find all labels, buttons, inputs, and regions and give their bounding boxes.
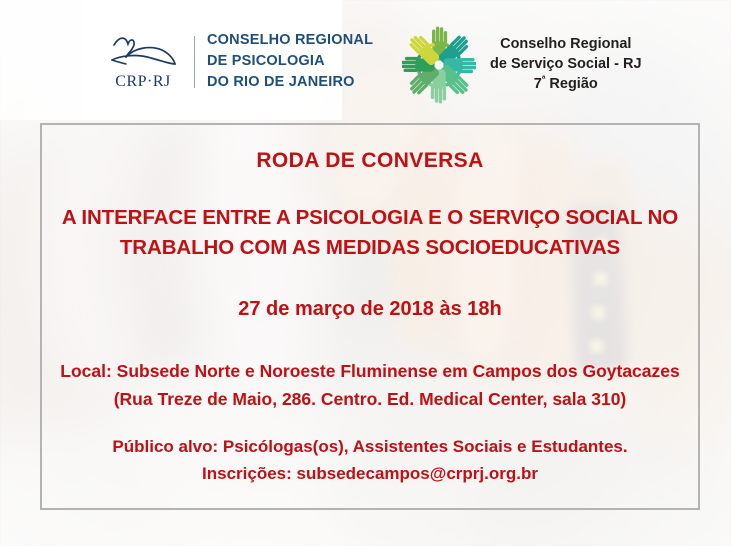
event-location-line-2: (Rua Treze de Maio, 286. Centro. Ed. Med…: [44, 385, 696, 413]
crp-rj-logo: CRP·RJ CONSELHO REGIONAL DE PSICOLOGIA D…: [104, 30, 373, 93]
event-title-line-1: A INTERFACE ENTRE A PSICOLOGIA E O SERVI…: [46, 203, 694, 233]
cress-logo-text: Conselho Regional de Serviço Social - RJ…: [490, 35, 642, 95]
crp-logo-line-3: DO RIO DE JANEIRO: [207, 72, 373, 93]
event-location-line-1: Local: Subsede Norte e Noroeste Fluminen…: [44, 357, 696, 385]
circle-of-hands-icon: [402, 26, 476, 104]
logo-divider: [194, 36, 195, 88]
crp-logo-line-1: CONSELHO REGIONAL: [207, 30, 373, 51]
cress-logo-line-1: Conselho Regional: [490, 35, 642, 55]
event-location: Local: Subsede Norte e Noroeste Fluminen…: [44, 357, 696, 413]
event-audience: Público alvo: Psicólogas(os), Assistente…: [44, 433, 696, 487]
crp-initials: CRP·RJ: [104, 74, 182, 90]
cress-logo-region: 7ª Região: [490, 74, 642, 95]
event-kicker: RODA DE CONVERSA: [40, 149, 700, 173]
event-poster: CRP·RJ CONSELHO REGIONAL DE PSICOLOGIA D…: [0, 0, 731, 546]
crp-logo-line-2: DE PSICOLOGIA: [207, 51, 373, 72]
crp-bird-book-icon: CRP·RJ: [104, 33, 182, 90]
event-date: 27 de março de 2018 às 18h: [40, 298, 700, 321]
cress-rj-logo: Conselho Regional de Serviço Social - RJ…: [402, 26, 642, 104]
cress-region-ordinal: ª: [542, 74, 546, 85]
poster-header: CRP·RJ CONSELHO REGIONAL DE PSICOLOGIA D…: [0, 0, 731, 120]
event-title: A INTERFACE ENTRE A PSICOLOGIA E O SERVI…: [46, 203, 694, 262]
event-audience-line-1: Público alvo: Psicólogas(os), Assistente…: [44, 433, 696, 460]
event-title-line-2: TRABALHO COM AS MEDIDAS SOCIOEDUCATIVAS: [46, 233, 694, 263]
cress-region-word: Região: [549, 76, 597, 92]
cress-logo-line-2: de Serviço Social - RJ: [490, 55, 642, 75]
poster-content: RODA DE CONVERSA A INTERFACE ENTRE A PSI…: [40, 123, 700, 510]
crp-logo-text: CONSELHO REGIONAL DE PSICOLOGIA DO RIO D…: [207, 30, 373, 93]
event-registration-line: Inscrições: subsedecampos@crprj.org.br: [44, 460, 696, 487]
cress-region-number: 7: [534, 76, 542, 92]
